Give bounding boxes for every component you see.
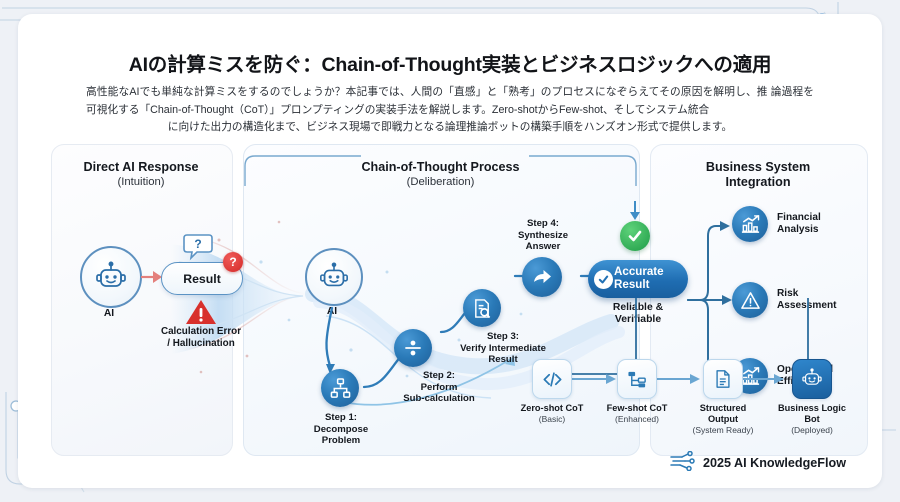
section-title-middle-main: Chain-of-Thought Process [361,160,519,174]
section-title-left-main: Direct AI Response [83,160,198,174]
pipeline-label-3-line1: Business Logic [778,403,846,413]
ai-label-left: AI [80,308,138,319]
pipeline-sub-1: (Enhanced) [600,414,674,425]
step-2-icon [394,329,432,367]
step-1-label: Step 1: Decompose Problem [306,412,376,447]
pipeline-label-0: Zero-shot CoT [521,403,584,413]
error-badge: ? [223,252,243,272]
pipeline-sub-2: (System Ready) [686,425,760,436]
infographic-card: AIの計算ミスを防ぐ：Chain-of-Thought実装とビジネスロジックへの… [18,14,882,488]
biz-label-0-line2: Analysis [777,224,819,235]
page-title: AIの計算ミスを防ぐ：Chain-of-Thought実装とビジネスロジックへの… [18,48,882,77]
biz-item-financial-analysis-label: Financial Analysis [777,212,821,237]
step-4-title: Step 4: [527,218,559,229]
biz-label-1-line1: Risk [777,288,798,299]
sitemap-icon [617,359,657,399]
warning-triangle-icon [185,298,217,326]
arrow-down-to-check [628,200,642,222]
error-caption-line2: / Hallucination [167,338,235,349]
robot-icon [80,246,142,308]
section-subtitle-left: (Intuition) [51,175,231,190]
biz-item-financial-analysis[interactable]: Financial Analysis [732,206,821,242]
section-title-right-main: Business System [706,160,810,174]
lead-paragraph: 高性能なAIでも単純な計算ミスをするのでしょうか？本記事では、人間の「直感」と「… [86,84,814,137]
biz-label-0-line1: Financial [777,212,821,223]
pipeline-label-1: Few-shot CoT [607,403,668,413]
pipeline-item-structured-output[interactable]: Structured Output (System Ready) [686,359,760,436]
step-4-icon [522,257,562,297]
step-3-icon [463,289,501,327]
document-icon [703,359,743,399]
pipeline-label-2-line1: Structured [700,403,746,413]
step-1-line2: Decompose [306,424,376,436]
step-2-line2: Perform [390,382,488,394]
pipeline-item-few-shot[interactable]: Few-shot CoT (Enhanced) [600,359,674,425]
question-bubble-icon: ? [182,232,214,262]
pipeline-label-structured-output: Structured Output (System Ready) [686,403,760,436]
pipeline-label-zero-shot: Zero-shot CoT (Basic) [515,403,589,425]
footer-brand-text: 2025 AI KnowledgeFlow [703,456,846,470]
pipeline-label-3-line2: Bot [775,414,849,425]
robot-icon-bot [792,359,832,399]
svg-text:?: ? [194,237,201,251]
pipeline-label-2-line2: Output [686,414,760,425]
step-4-label: Step 4: Synthesize Answer [506,218,580,253]
section-title-right-line2: Integration [650,175,866,190]
step-1-icon [321,369,359,407]
step-2-line3: Sub-calculation [390,393,488,405]
pipeline-label-few-shot: Few-shot CoT (Enhanced) [600,403,674,425]
step-2-title: Step 2: [423,370,455,381]
step-4-line2: Synthesize [506,230,580,242]
step-2-label: Step 2: Perform Sub-calculation [390,370,488,405]
pipeline-item-zero-shot[interactable]: Zero-shot CoT (Basic) [515,359,589,425]
section-title-left: Direct AI Response (Intuition) [51,160,231,190]
step-1-line3: Problem [306,435,376,447]
lead-line-1: 高性能なAIでも単純な計算ミスをするのでしょうか？本記事では、人間の「直感」と「… [86,86,768,98]
code-icon [532,359,572,399]
footer-brand: 2025 AI KnowledgeFlow [669,451,846,474]
step-1-title: Step 1: [325,412,357,423]
section-title-middle: Chain-of-Thought Process (Deliberation) [243,160,638,190]
pipeline-label-business-logic-bot: Business Logic Bot (Deployed) [775,403,849,436]
circuit-flow-icon [669,451,695,474]
section-subtitle-middle: (Deliberation) [243,175,638,190]
chart-growth-icon [732,206,768,242]
pipeline-sub-3: (Deployed) [775,425,849,436]
pipeline-item-business-logic-bot[interactable]: Business Logic Bot (Deployed) [775,359,849,436]
error-caption-line1: Calculation Error [161,326,241,337]
check-circle-icon [594,270,613,289]
accurate-result-line2: Result [614,279,664,292]
lead-line-3: に向けた出力の構造化まで、ビジネス現場で即戦力となる論理推論ボットの構築手順をハ… [86,119,814,137]
green-check-icon [620,221,650,251]
step-4-line3: Answer [506,241,580,253]
pipeline-sub-0: (Basic) [515,414,589,425]
section-title-right: Business System Integration [650,160,866,190]
